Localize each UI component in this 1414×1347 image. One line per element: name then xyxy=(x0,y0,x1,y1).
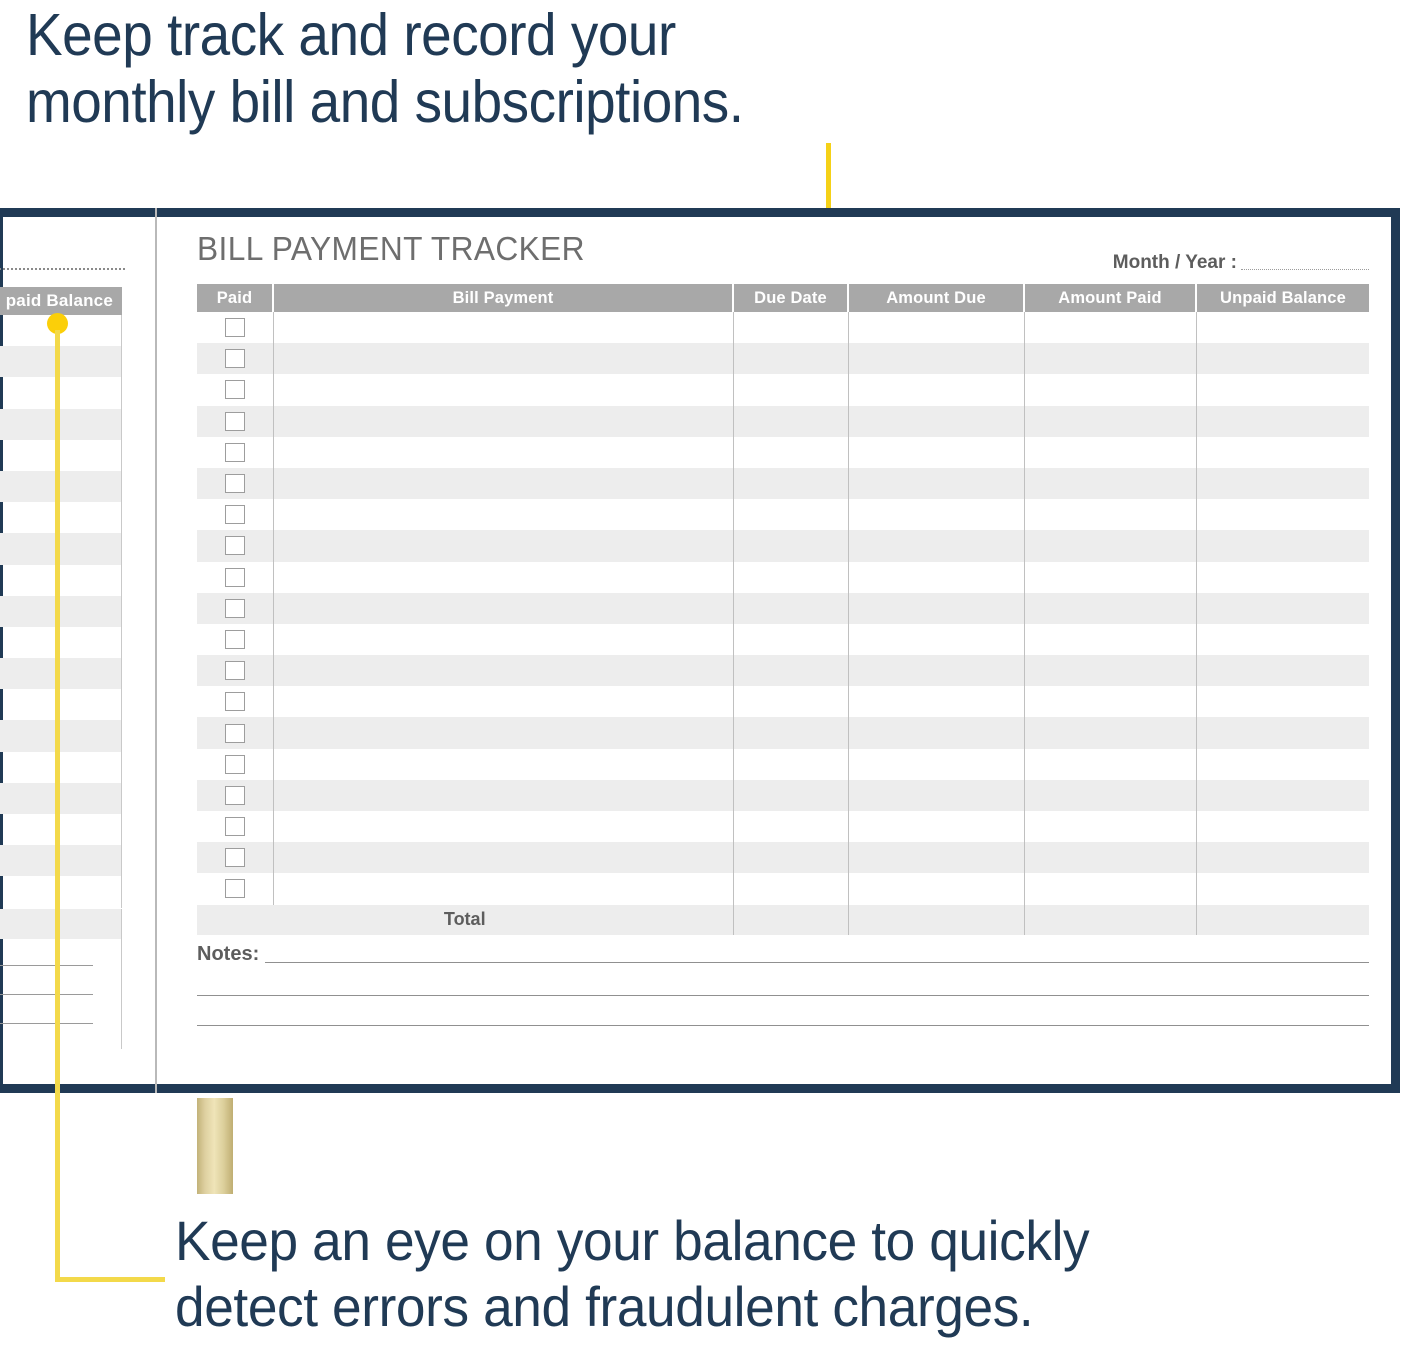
cell-amount_paid[interactable] xyxy=(1024,312,1196,343)
cell-amount_due[interactable] xyxy=(848,811,1024,842)
cell-due_date[interactable] xyxy=(733,437,848,468)
column-header-amount-due: Amount Due xyxy=(848,284,1024,312)
cell-amount_due[interactable] xyxy=(848,437,1024,468)
cell-due_date[interactable] xyxy=(733,749,848,780)
cell-amount_due[interactable] xyxy=(848,343,1024,374)
left-page-row xyxy=(0,752,122,783)
cell-amount_due[interactable] xyxy=(848,499,1024,530)
paid-checkbox-cell[interactable] xyxy=(197,624,273,655)
month-year-field[interactable]: Month / Year : xyxy=(1113,252,1369,274)
cell-amount_paid[interactable] xyxy=(1024,499,1196,530)
cell-due_date[interactable] xyxy=(733,343,848,374)
cell-unpaid_balance[interactable] xyxy=(1196,655,1369,686)
paid-checkbox-cell[interactable] xyxy=(197,717,273,748)
table-total-row: Total xyxy=(197,905,1369,935)
cell-unpaid_balance[interactable] xyxy=(1196,717,1369,748)
left-page-unpaid-balance-header: paid Balance xyxy=(0,287,122,315)
paid-checkbox[interactable] xyxy=(225,599,245,618)
cell-amount_paid[interactable] xyxy=(1024,749,1196,780)
paid-checkbox[interactable] xyxy=(225,630,245,649)
left-page-row xyxy=(0,533,122,564)
cell-amount_due[interactable] xyxy=(848,468,1024,499)
cell-amount_due[interactable] xyxy=(848,780,1024,811)
left-page-row xyxy=(0,783,122,814)
cell-due_date[interactable] xyxy=(733,499,848,530)
paid-checkbox-cell[interactable] xyxy=(197,655,273,686)
left-page-row xyxy=(0,720,122,751)
left-page-row xyxy=(0,471,122,502)
cell-amount_due[interactable] xyxy=(848,374,1024,405)
total-amount-due-cell[interactable] xyxy=(848,905,1024,935)
left-page-row xyxy=(0,502,122,533)
cell-due_date[interactable] xyxy=(733,780,848,811)
left-page-row xyxy=(0,658,122,689)
cell-amount_paid[interactable] xyxy=(1024,562,1196,593)
paid-checkbox-cell[interactable] xyxy=(197,406,273,437)
left-page-total-row xyxy=(0,909,122,939)
total-label-cell: Total xyxy=(197,905,733,935)
table-row xyxy=(197,406,1369,437)
cell-amount_paid[interactable] xyxy=(1024,374,1196,405)
cell-amount_due[interactable] xyxy=(848,749,1024,780)
left-page-partial: paid Balance xyxy=(0,210,150,1090)
cell-unpaid_balance[interactable] xyxy=(1196,562,1369,593)
table-row xyxy=(197,842,1369,873)
cell-bill_payment[interactable] xyxy=(273,499,733,530)
total-amount-paid-cell[interactable] xyxy=(1024,905,1196,935)
cell-bill_payment[interactable] xyxy=(273,437,733,468)
cell-amount_paid[interactable] xyxy=(1024,468,1196,499)
paid-checkbox-cell[interactable] xyxy=(197,593,273,624)
table-row xyxy=(197,624,1369,655)
cell-unpaid_balance[interactable] xyxy=(1196,686,1369,717)
cell-amount_due[interactable] xyxy=(848,842,1024,873)
cell-amount_due[interactable] xyxy=(848,624,1024,655)
table-row xyxy=(197,468,1369,499)
cell-amount_paid[interactable] xyxy=(1024,780,1196,811)
planner-spine-divider xyxy=(155,208,157,1093)
left-page-row xyxy=(0,845,122,876)
cell-unpaid_balance[interactable] xyxy=(1196,842,1369,873)
paid-checkbox[interactable] xyxy=(225,380,245,399)
left-page-rows xyxy=(0,315,122,909)
month-year-input-rule[interactable] xyxy=(1241,269,1369,270)
screenshot-stage: Keep track and record your monthly bill … xyxy=(0,0,1414,1347)
cell-amount_due[interactable] xyxy=(848,312,1024,343)
cell-unpaid_balance[interactable] xyxy=(1196,499,1369,530)
column-header-due-date: Due Date xyxy=(733,284,848,312)
table-row xyxy=(197,686,1369,717)
bottom-callout-leader-foot xyxy=(55,1277,165,1282)
paid-checkbox[interactable] xyxy=(225,536,245,555)
paid-checkbox-cell[interactable] xyxy=(197,343,273,374)
cell-amount_due[interactable] xyxy=(848,717,1024,748)
cell-amount_paid[interactable] xyxy=(1024,593,1196,624)
cell-unpaid_balance[interactable] xyxy=(1196,343,1369,374)
paid-checkbox[interactable] xyxy=(225,661,245,680)
cell-bill_payment[interactable] xyxy=(273,593,733,624)
cell-amount_paid[interactable] xyxy=(1024,406,1196,437)
cell-amount_due[interactable] xyxy=(848,655,1024,686)
pencil-icon xyxy=(197,1098,233,1194)
notes-write-line-3[interactable] xyxy=(197,1025,1369,1026)
table-row xyxy=(197,593,1369,624)
cell-bill_payment[interactable] xyxy=(273,749,733,780)
notes-first-row: Notes: xyxy=(197,944,1369,966)
column-header-paid: Paid xyxy=(197,284,273,312)
paid-checkbox[interactable] xyxy=(225,786,245,805)
left-page-row xyxy=(0,346,122,377)
left-page-notes-line xyxy=(0,994,93,995)
table-row xyxy=(197,562,1369,593)
paid-checkbox[interactable] xyxy=(225,879,245,898)
cell-due_date[interactable] xyxy=(733,562,848,593)
left-page-month-year-rule xyxy=(0,268,125,270)
paid-checkbox[interactable] xyxy=(225,755,245,774)
cell-unpaid_balance[interactable] xyxy=(1196,873,1369,904)
paid-checkbox-cell[interactable] xyxy=(197,437,273,468)
left-page-row xyxy=(0,689,122,720)
left-page-row xyxy=(0,876,122,907)
cell-due_date[interactable] xyxy=(733,468,848,499)
cell-amount_paid[interactable] xyxy=(1024,655,1196,686)
cell-amount_due[interactable] xyxy=(848,873,1024,904)
cell-due_date[interactable] xyxy=(733,686,848,717)
left-page-row xyxy=(0,627,122,658)
paid-checkbox-cell[interactable] xyxy=(197,499,273,530)
left-page-row xyxy=(0,596,122,627)
table-row xyxy=(197,655,1369,686)
cell-amount_due[interactable] xyxy=(848,530,1024,561)
table-row xyxy=(197,437,1369,468)
paid-checkbox[interactable] xyxy=(225,443,245,462)
cell-bill_payment[interactable] xyxy=(273,811,733,842)
paid-checkbox-cell[interactable] xyxy=(197,562,273,593)
cell-unpaid_balance[interactable] xyxy=(1196,374,1369,405)
notes-write-line-1[interactable] xyxy=(265,962,1369,963)
paid-checkbox-cell[interactable] xyxy=(197,749,273,780)
left-page-row xyxy=(0,377,122,408)
left-page-notes-line xyxy=(0,1023,93,1024)
table-body xyxy=(197,312,1369,905)
paid-checkbox-cell[interactable] xyxy=(197,811,273,842)
paid-checkbox-cell[interactable] xyxy=(197,312,273,343)
cell-due_date[interactable] xyxy=(733,655,848,686)
cell-unpaid_balance[interactable] xyxy=(1196,406,1369,437)
cell-unpaid_balance[interactable] xyxy=(1196,593,1369,624)
bottom-callout-leader-line xyxy=(55,330,60,1282)
cell-due_date[interactable] xyxy=(733,312,848,343)
notes-write-line-2[interactable] xyxy=(197,995,1369,996)
paid-checkbox-cell[interactable] xyxy=(197,842,273,873)
paid-checkbox[interactable] xyxy=(225,848,245,867)
table-row xyxy=(197,530,1369,561)
cell-due_date[interactable] xyxy=(733,717,848,748)
paid-checkbox[interactable] xyxy=(225,412,245,431)
cell-bill_payment[interactable] xyxy=(273,655,733,686)
cell-due_date[interactable] xyxy=(733,842,848,873)
cell-amount_paid[interactable] xyxy=(1024,873,1196,904)
cell-amount_paid[interactable] xyxy=(1024,343,1196,374)
table-row xyxy=(197,499,1369,530)
cell-unpaid_balance[interactable] xyxy=(1196,811,1369,842)
cell-unpaid_balance[interactable] xyxy=(1196,437,1369,468)
table-row xyxy=(197,811,1369,842)
paid-checkbox[interactable] xyxy=(225,474,245,493)
cell-due_date[interactable] xyxy=(733,593,848,624)
cell-bill_payment[interactable] xyxy=(273,562,733,593)
paid-checkbox[interactable] xyxy=(225,692,245,711)
paid-checkbox-cell[interactable] xyxy=(197,780,273,811)
top-callout-text: Keep track and record your monthly bill … xyxy=(26,2,956,137)
table-row xyxy=(197,749,1369,780)
cell-bill_payment[interactable] xyxy=(273,530,733,561)
total-unpaid-balance-cell[interactable] xyxy=(1196,905,1369,935)
notes-label: Notes: xyxy=(197,944,259,966)
cell-bill_payment[interactable] xyxy=(273,374,733,405)
table-row xyxy=(197,717,1369,748)
bottom-callout-text: Keep an eye on your balance to quickly d… xyxy=(175,1208,1363,1340)
cell-amount_paid[interactable] xyxy=(1024,842,1196,873)
cell-bill_payment[interactable] xyxy=(273,842,733,873)
table-row xyxy=(197,780,1369,811)
cell-amount_paid[interactable] xyxy=(1024,717,1196,748)
cell-amount_paid[interactable] xyxy=(1024,530,1196,561)
paid-checkbox-cell[interactable] xyxy=(197,468,273,499)
bill-payment-table: Paid Bill Payment Due Date Amount Due Am… xyxy=(197,284,1369,935)
cell-bill_payment[interactable] xyxy=(273,343,733,374)
cell-amount_due[interactable] xyxy=(848,406,1024,437)
cell-amount_paid[interactable] xyxy=(1024,624,1196,655)
cell-amount_paid[interactable] xyxy=(1024,686,1196,717)
cell-bill_payment[interactable] xyxy=(273,624,733,655)
table-row xyxy=(197,374,1369,405)
column-header-amount-paid: Amount Paid xyxy=(1024,284,1196,312)
cell-due_date[interactable] xyxy=(733,811,848,842)
cell-amount_due[interactable] xyxy=(848,593,1024,624)
cell-unpaid_balance[interactable] xyxy=(1196,780,1369,811)
cell-unpaid_balance[interactable] xyxy=(1196,749,1369,780)
left-page-row xyxy=(0,565,122,596)
cell-unpaid_balance[interactable] xyxy=(1196,530,1369,561)
column-header-bill-payment: Bill Payment xyxy=(273,284,733,312)
left-page-notes-line xyxy=(0,965,93,966)
left-page-notes-area xyxy=(0,939,122,1049)
left-page-row xyxy=(0,814,122,845)
paid-checkbox[interactable] xyxy=(225,568,245,587)
month-year-label: Month / Year : xyxy=(1113,252,1237,274)
cell-due_date[interactable] xyxy=(733,624,848,655)
table-row xyxy=(197,343,1369,374)
paid-checkbox-cell[interactable] xyxy=(197,873,273,904)
cell-due_date[interactable] xyxy=(733,406,848,437)
cell-amount_due[interactable] xyxy=(848,686,1024,717)
cell-bill_payment[interactable] xyxy=(273,717,733,748)
cell-bill_payment[interactable] xyxy=(273,686,733,717)
cell-due_date[interactable] xyxy=(733,530,848,561)
paid-checkbox[interactable] xyxy=(225,505,245,524)
cell-bill_payment[interactable] xyxy=(273,780,733,811)
table-row xyxy=(197,873,1369,904)
paid-checkbox[interactable] xyxy=(225,817,245,836)
notes-section: Notes: xyxy=(197,944,1369,1026)
paid-checkbox[interactable] xyxy=(225,724,245,743)
cell-unpaid_balance[interactable] xyxy=(1196,624,1369,655)
cell-amount_due[interactable] xyxy=(848,562,1024,593)
cell-bill_payment[interactable] xyxy=(273,406,733,437)
bill-payment-tracker-page: BILL PAYMENT TRACKER Month / Year : Paid… xyxy=(197,232,1369,265)
paid-checkbox-cell[interactable] xyxy=(197,686,273,717)
paid-checkbox[interactable] xyxy=(225,349,245,368)
cell-bill_payment[interactable] xyxy=(273,468,733,499)
table-header-row: Paid Bill Payment Due Date Amount Due Am… xyxy=(197,284,1369,312)
cell-bill_payment[interactable] xyxy=(273,312,733,343)
cell-due_date[interactable] xyxy=(733,873,848,904)
column-header-unpaid-balance: Unpaid Balance xyxy=(1196,284,1369,312)
cell-due_date[interactable] xyxy=(733,374,848,405)
left-page-row xyxy=(0,440,122,471)
cell-unpaid_balance[interactable] xyxy=(1196,312,1369,343)
table-row xyxy=(197,312,1369,343)
cell-amount_paid[interactable] xyxy=(1024,811,1196,842)
paid-checkbox[interactable] xyxy=(225,318,245,337)
paid-checkbox-cell[interactable] xyxy=(197,374,273,405)
cell-unpaid_balance[interactable] xyxy=(1196,468,1369,499)
left-page-row xyxy=(0,409,122,440)
cell-bill_payment[interactable] xyxy=(273,873,733,904)
total-due-date-cell xyxy=(733,905,848,935)
cell-amount_paid[interactable] xyxy=(1024,437,1196,468)
paid-checkbox-cell[interactable] xyxy=(197,530,273,561)
